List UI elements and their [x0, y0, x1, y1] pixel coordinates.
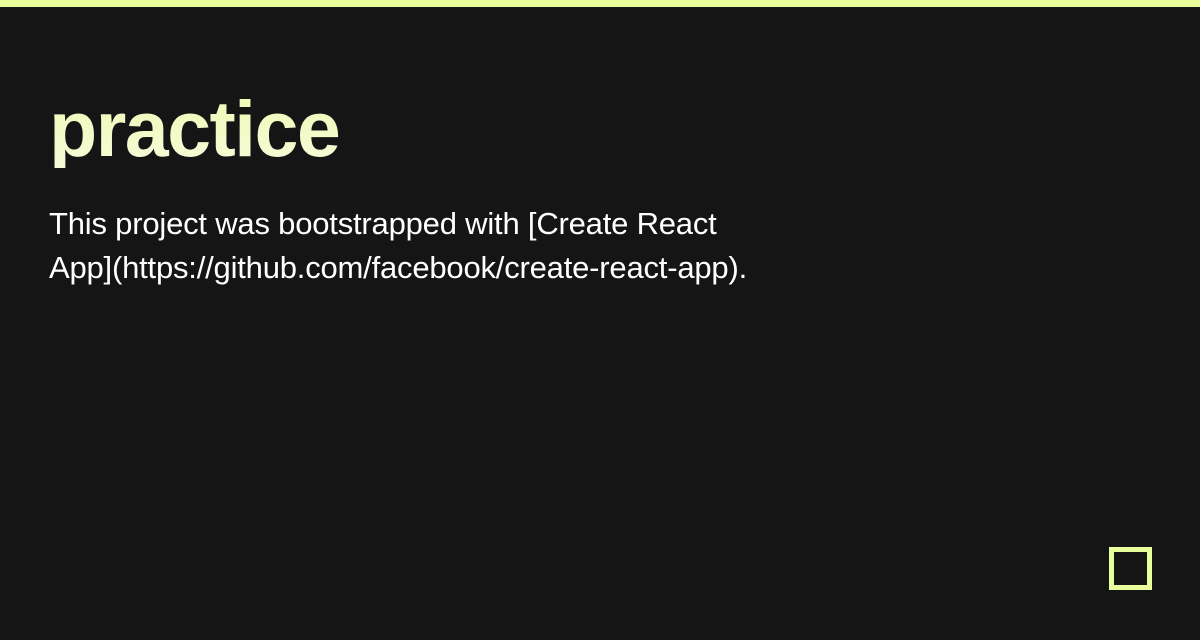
- card-content: practice This project was bootstrapped w…: [49, 7, 809, 290]
- project-description: This project was bootstrapped with [Crea…: [49, 202, 749, 290]
- page-title: practice: [49, 7, 809, 168]
- square-outline-icon: [1109, 547, 1152, 590]
- og-preview-card: practice This project was bootstrapped w…: [0, 0, 1200, 640]
- top-accent-bar: [0, 0, 1200, 7]
